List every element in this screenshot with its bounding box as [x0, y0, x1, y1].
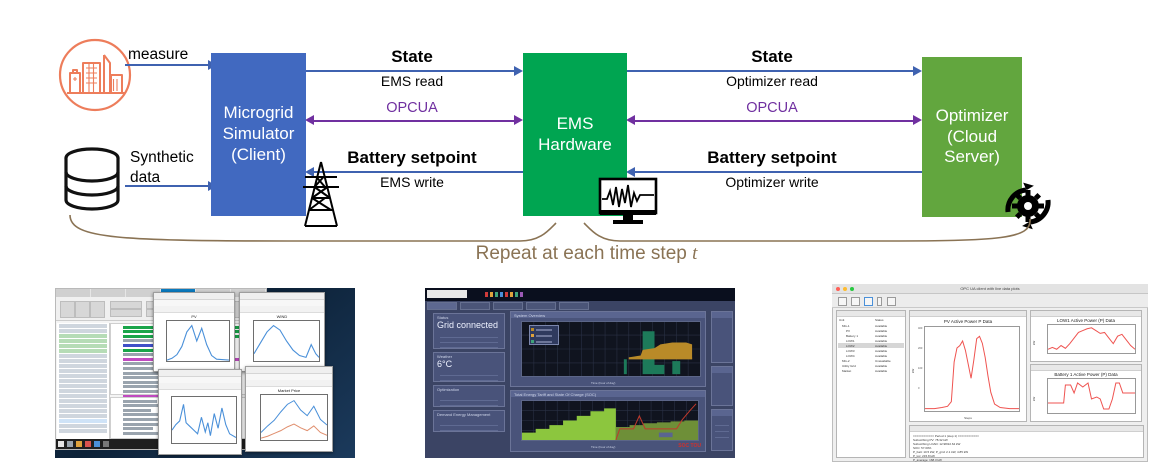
ribbon-tab-plots[interactable]	[91, 289, 125, 297]
plot-xlabel-pv: Steps	[910, 416, 1026, 420]
figure-axes	[171, 396, 237, 444]
tree-item-label[interactable]: PV	[846, 329, 850, 333]
right-setpoint-title: Battery setpoint	[625, 148, 919, 168]
right-opcua-label: OPCUA	[627, 100, 917, 116]
tab-schedule[interactable]	[460, 302, 490, 310]
matlab-figure-window-wind[interactable]: WIND	[239, 292, 325, 372]
weather-temperature: 6°C	[437, 359, 452, 369]
node-optimizer-line1: Optimizer	[936, 106, 1009, 127]
plot-ylabel-battery1: kW	[1032, 397, 1036, 401]
folder-item[interactable]	[59, 394, 107, 398]
tree-item-status: Available	[875, 344, 887, 348]
tree-item-status: Unavailable	[875, 359, 891, 363]
panel-optimization-title: Optimization	[437, 387, 459, 392]
tree-item-label[interactable]: LOW2	[846, 344, 855, 348]
current-folder-pane[interactable]	[57, 323, 110, 439]
synthetic-label-line2: data	[130, 168, 160, 187]
node-simulator-line2: Simulator	[223, 124, 295, 145]
figure-title: WIND	[240, 314, 324, 319]
building-battery-icon	[55, 35, 135, 115]
plot-axes-pv	[924, 326, 1020, 412]
figure-axes	[260, 394, 328, 441]
tab-setup[interactable]	[559, 302, 589, 310]
folder-item[interactable]	[59, 339, 107, 343]
ems-dashboard-screenshot[interactable]: Status Grid connected Weather 6°C Optimi…	[425, 288, 735, 458]
taskbar-search-icon[interactable]	[67, 441, 73, 447]
taskbar-explorer-icon[interactable]	[76, 441, 82, 447]
window-title: OPC UA client with live data plots	[832, 286, 1148, 291]
toolbar-settings-icon[interactable]	[887, 297, 896, 306]
command-line	[123, 409, 151, 412]
log-pane-header[interactable]	[910, 426, 1143, 432]
folder-item[interactable]	[59, 389, 107, 393]
node-ems-line2: Hardware	[538, 135, 612, 156]
figure-toolbar[interactable]	[240, 306, 324, 313]
node-simulator-line3: (Client)	[231, 145, 286, 166]
synthetic-label-line1: Synthetic	[130, 148, 194, 167]
folder-item[interactable]	[59, 414, 107, 418]
folder-item[interactable]	[59, 409, 107, 413]
tree-header-status: Status	[875, 318, 884, 322]
plot-pane-battery1[interactable]: Battery 1 Active Power (P) Data kW	[1030, 364, 1142, 422]
chart-title-system-overview: System Overview	[514, 313, 545, 318]
chart-tariff-soc	[521, 400, 699, 441]
figure-title: Market Price	[246, 388, 332, 393]
panel-status: Status Grid connected	[433, 313, 505, 349]
node-microgrid-simulator[interactable]: Microgrid Simulator (Client)	[211, 53, 306, 216]
taskbar-app-icon[interactable]	[94, 441, 100, 447]
tree-item-label[interactable]: Utility Grid	[842, 364, 856, 368]
panel-right-overview	[711, 311, 733, 363]
loop-caption-text: Repeat at each time step	[476, 243, 693, 264]
left-opcua-line	[314, 120, 516, 122]
node-ems-line1: EMS	[557, 114, 594, 135]
folder-item[interactable]	[59, 324, 107, 328]
tree-item-label[interactable]: MG-2	[842, 359, 850, 363]
ribbon-tab-home[interactable]	[56, 289, 90, 297]
window-titlebar[interactable]: OPC UA client with live data plots	[832, 284, 1148, 294]
right-opcua-arrow-head-right	[913, 115, 922, 125]
figure-titlebar[interactable]	[246, 367, 332, 374]
plot-pane-header[interactable]	[1031, 365, 1141, 371]
tree-item-status: Available	[875, 369, 887, 373]
panel-right-system	[711, 366, 733, 406]
vendor-logo	[427, 290, 467, 298]
plot-axes-low1	[1047, 324, 1136, 354]
command-line	[123, 427, 153, 430]
plot-pane-low1[interactable]: LOW1 Active Power (P) Data kW	[1030, 310, 1142, 362]
app-toolbar[interactable]	[832, 294, 1148, 308]
panel-dem: Demand Energy Management	[433, 410, 505, 432]
tree-item-status: Available	[875, 329, 887, 333]
node-optimizer-line3: Server)	[944, 147, 1000, 168]
plot-title-pv: PV Active Power P Data	[910, 319, 1026, 324]
folder-item[interactable]	[59, 359, 107, 363]
loop-caption: Repeat at each time step t	[0, 243, 1173, 265]
folder-item[interactable]	[59, 354, 107, 358]
taskbar-app2-icon[interactable]	[103, 441, 109, 447]
plot-title-battery1: Battery 1 Active Power (P) Data	[1031, 372, 1141, 377]
folder-item[interactable]	[59, 399, 107, 403]
folder-item[interactable]	[59, 349, 107, 353]
taskbar-matlab-icon[interactable]	[85, 441, 91, 447]
right-state-title: State	[627, 47, 917, 67]
folder-item[interactable]	[59, 379, 107, 383]
figure-toolbar[interactable]	[159, 383, 241, 390]
figure-canvas: measure Synthetic data State EMS read OP…	[0, 0, 1173, 463]
tab-trend[interactable]	[526, 302, 556, 310]
panel-weather: Weather 6°C	[433, 352, 505, 382]
left-opcua-arrow-head-left	[305, 115, 314, 125]
tree-item-status: Available	[875, 354, 887, 358]
right-opcua-line	[635, 120, 915, 122]
tree-item-label[interactable]: LOW3	[846, 349, 855, 353]
figure-axes	[166, 320, 230, 362]
tab-overview[interactable]	[427, 302, 457, 310]
folder-item[interactable]	[59, 429, 107, 433]
folder-item[interactable]	[59, 424, 107, 428]
tree-item-label[interactable]: LOW4	[846, 354, 855, 358]
panel-right-report	[711, 409, 733, 451]
plot-pane-header[interactable]	[910, 311, 1026, 317]
log-pane[interactable]: ============ Period 1 (step 1) =========…	[909, 425, 1144, 458]
chart-title-tariff-soc: Total Energy Tariff and State Of Charge …	[514, 392, 596, 397]
folder-item[interactable]	[59, 374, 107, 378]
tree-item-status: Available	[875, 324, 887, 328]
folder-item[interactable]	[59, 329, 107, 333]
chart-legend	[529, 325, 559, 345]
dashboard-tabs[interactable]	[427, 302, 589, 310]
matlab-figure-window-market[interactable]: Market Price	[245, 366, 333, 452]
tab-logs[interactable]	[493, 302, 523, 310]
folder-item[interactable]	[59, 404, 107, 408]
panel-tariff-soc: Total Energy Tariff and State Of Charge …	[510, 390, 706, 452]
left-state-title: State	[306, 47, 518, 67]
node-simulator-line1: Microgrid	[224, 103, 294, 124]
folder-item-selected[interactable]	[59, 419, 107, 423]
panel-system-overview: System Overview	[510, 311, 706, 387]
left-opcua-label: OPCUA	[306, 100, 518, 116]
taskbar-start-icon[interactable]	[58, 441, 64, 447]
figure-titlebar[interactable]	[240, 293, 324, 300]
toolbar-battery-icon[interactable]	[877, 297, 882, 306]
right-setpoint-line	[635, 171, 922, 173]
tree-header-unit: Unit	[839, 318, 844, 322]
folder-item[interactable]	[59, 384, 107, 388]
toolbar-grid-icon[interactable]	[851, 297, 860, 306]
panel-dem-title: Demand Energy Management	[437, 412, 490, 417]
tree-item-status: Available	[875, 364, 887, 368]
left-state-subtitle: EMS read	[306, 73, 518, 89]
tree-header	[837, 311, 905, 317]
matlab-figure-window-fig3[interactable]	[158, 369, 242, 455]
plot-ylabel-pv: kW	[911, 369, 915, 373]
panel-optimization: Optimization	[433, 385, 505, 407]
toolbar-list-icon[interactable]	[838, 297, 847, 306]
figure-titlebar[interactable]	[159, 370, 241, 377]
tree-item-label[interactable]: MG-1	[842, 324, 850, 328]
tool-new[interactable]	[60, 301, 75, 318]
panel-header	[712, 410, 732, 416]
node-optimizer-line2: (Cloud	[947, 127, 997, 148]
folder-item[interactable]	[59, 334, 107, 338]
header-status-dots	[485, 292, 523, 297]
right-state-line	[627, 70, 915, 72]
matlab-figure-window-pv[interactable]: PV	[153, 292, 235, 372]
grid-status-value: Grid connected	[437, 320, 498, 330]
tool-print[interactable]	[110, 309, 142, 317]
folder-item[interactable]	[59, 364, 107, 368]
toolbar-refresh-icon[interactable]	[864, 297, 873, 306]
left-state-line	[306, 70, 516, 72]
plot-ylabel-low1: kW	[1032, 341, 1036, 345]
dashboard-header	[425, 288, 735, 301]
figure-toolbar[interactable]	[246, 380, 332, 387]
figure-title: PV	[154, 314, 234, 319]
figure-toolbar[interactable]	[154, 306, 234, 313]
command-line	[123, 400, 157, 403]
tool-open[interactable]	[75, 301, 90, 318]
tree-item-label[interactable]: Market	[842, 369, 851, 373]
plot-title-low1: LOW1 Active Power (P) Data	[1031, 318, 1141, 323]
tree-item-status: Available	[875, 349, 887, 353]
chart-xlabel: Time (hour of day)	[591, 381, 615, 385]
matlab-desktop-screenshot[interactable]: PV WIND	[55, 288, 355, 458]
folder-item[interactable]	[59, 369, 107, 373]
soc-tou-badge: SOC TOU	[678, 443, 701, 449]
measure-label: measure	[128, 45, 188, 64]
opcua-client-screenshot[interactable]: OPC UA client with live data plots Unit …	[832, 284, 1148, 462]
right-opcua-arrow-head-left	[626, 115, 635, 125]
left-opcua-arrow-head-right	[514, 115, 523, 125]
tree-item-label[interactable]: Battery 1	[846, 334, 858, 338]
tool-compare[interactable]	[110, 301, 142, 309]
plot-pane-header[interactable]	[1031, 311, 1141, 317]
chart-xlabel: Time (hour of day)	[591, 445, 615, 449]
folder-item[interactable]	[59, 344, 107, 348]
figure-axes	[253, 320, 320, 362]
right-setpoint-subtitle: Optimizer write	[627, 174, 917, 190]
panel-header	[712, 367, 732, 373]
plot-axes-battery1	[1047, 378, 1136, 414]
right-state-subtitle: Optimizer read	[627, 73, 917, 89]
device-tree-pane[interactable]: Unit Status MG-1 Available PV Available …	[836, 310, 906, 458]
panel-header	[712, 312, 732, 318]
loop-caption-symbol: t	[692, 243, 697, 264]
figure-titlebar[interactable]	[154, 293, 234, 300]
plot-pane-pv[interactable]: PV Active Power P Data kW Steps 400 200 …	[909, 310, 1027, 422]
tool-save[interactable]	[90, 301, 105, 318]
command-line	[123, 418, 159, 421]
tree-item-status: Available	[875, 334, 887, 338]
